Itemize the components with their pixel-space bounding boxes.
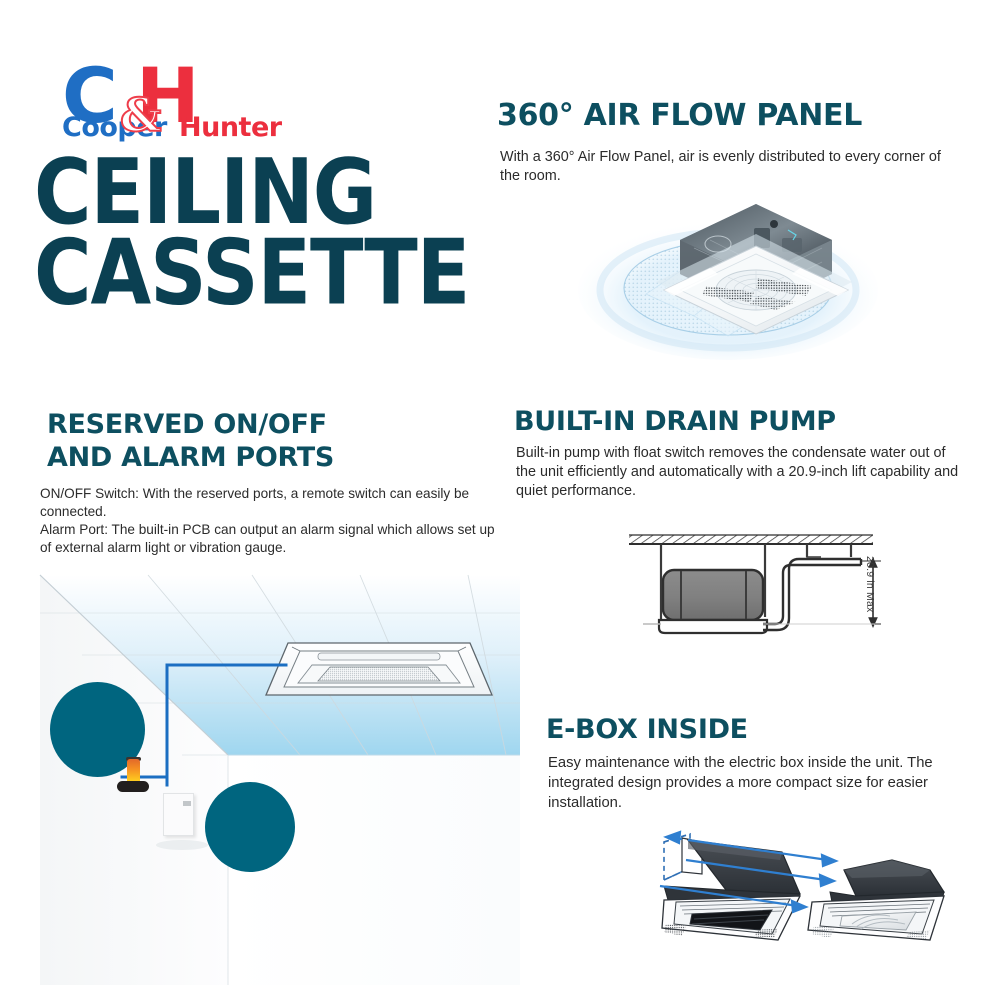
wall-switch-icon: [163, 793, 194, 836]
drain-pump-dimension-label: 20.9 in Max: [862, 556, 876, 636]
heading-reserved-ports: RESERVED ON/OFF AND ALARM PORTS: [47, 408, 334, 474]
body-reserved-ports: ON/OFF Switch: With the reserved ports, …: [40, 485, 505, 557]
alarm-beacon-light-icon: [127, 759, 140, 782]
body-reserved-ports-onoff: ON/OFF Switch: With the reserved ports, …: [40, 485, 505, 521]
body-reserved-ports-alarm: Alarm Port: The built-in PCB can output …: [40, 521, 505, 557]
body-ebox-inside: Easy maintenance with the electric box i…: [548, 753, 968, 813]
ebox-compact-size-diagram: [630, 830, 975, 965]
heading-reserved-ports-line-1: RESERVED ON/OFF: [47, 409, 327, 440]
logo-ampersand-icon: &: [120, 92, 162, 138]
heading-drain-pump: BUILT-IN DRAIN PUMP: [514, 405, 836, 438]
page-title-line-2: CASSETTE: [34, 233, 500, 314]
heading-ebox-inside: E-BOX INSIDE: [546, 713, 748, 746]
body-drain-pump: Built-in pump with float switch removes …: [516, 444, 968, 501]
page-title: CEILING CASSETTE: [34, 152, 500, 313]
alarm-beacon-base-icon: [117, 781, 149, 792]
heading-air-flow-panel: 360° AIR FLOW PANEL: [497, 98, 862, 134]
cooper-hunter-logo: C H & Cooper Hunter: [62, 58, 272, 142]
logo-word-hunter: Hunter: [179, 114, 282, 141]
air-flow-panel-render: [560, 178, 890, 363]
callout-circle-lower: [205, 782, 295, 872]
ceiling-cassette-unit-icon: [266, 643, 492, 695]
wall-switch-indicator-icon: [183, 801, 191, 806]
heading-reserved-ports-line-2: AND ALARM PORTS: [47, 442, 334, 473]
infographic-page: C H & Cooper Hunter CEILING CASSETTE 360…: [0, 0, 1000, 1000]
